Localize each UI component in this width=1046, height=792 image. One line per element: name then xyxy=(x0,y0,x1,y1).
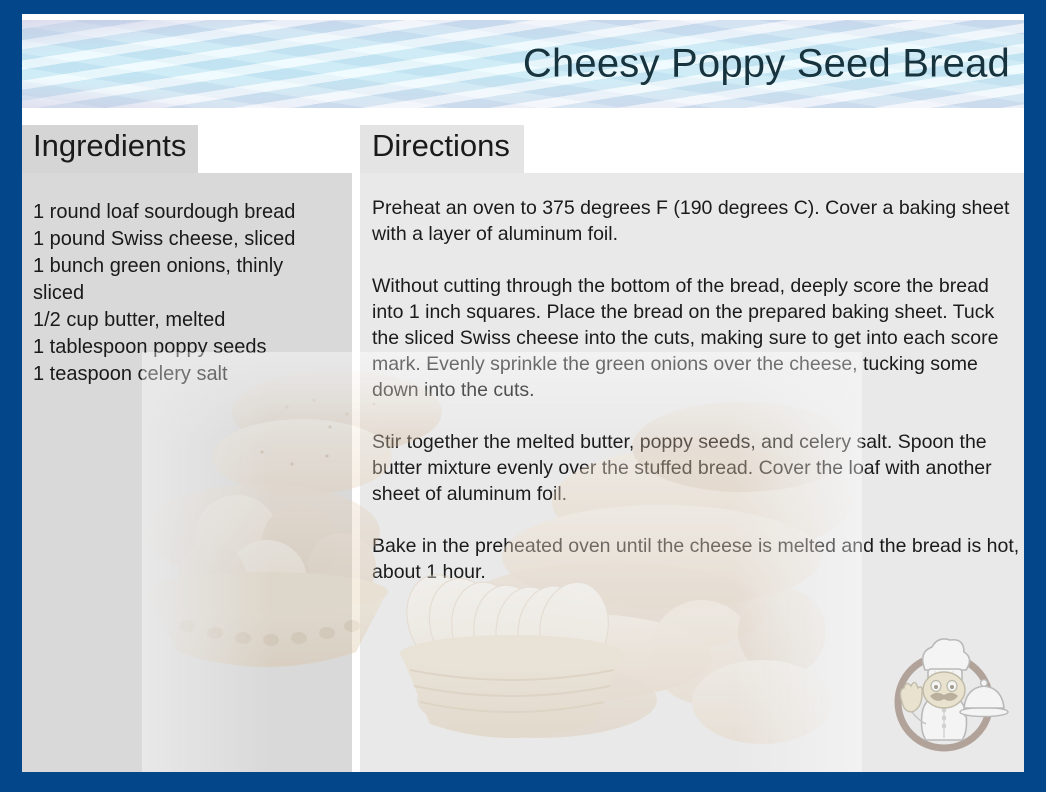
card-border-right xyxy=(1024,0,1046,792)
directions-tab-filler xyxy=(524,125,1024,173)
ingredients-list: 1 round loaf sourdough bread 1 pound Swi… xyxy=(33,199,335,388)
header-banner: Cheesy Poppy Seed Bread xyxy=(22,20,1024,108)
list-item: 1 bunch green onions, thinly xyxy=(33,253,335,280)
list-item: 1 teaspoon celery salt xyxy=(33,361,335,388)
directions-body: Preheat an oven to 375 degrees F (190 de… xyxy=(372,195,1022,585)
list-item: sliced xyxy=(33,280,335,307)
ingredients-tab-filler xyxy=(198,125,352,173)
directions-heading: Directions xyxy=(372,128,510,164)
card-border-bottom xyxy=(0,772,1046,792)
card-border-top xyxy=(0,0,1046,14)
ingredients-heading: Ingredients xyxy=(33,128,186,164)
list-item: 1/2 cup butter, melted xyxy=(33,307,335,334)
directions-paragraph: Stir together the melted butter, poppy s… xyxy=(372,429,1022,507)
page-title: Cheesy Poppy Seed Bread xyxy=(523,42,1010,87)
list-item: 1 tablespoon poppy seeds xyxy=(33,334,335,361)
ingredients-tab: Ingredients xyxy=(22,125,198,173)
card-border-left xyxy=(0,0,22,792)
directions-tab: Directions xyxy=(360,125,524,173)
list-item: 1 round loaf sourdough bread xyxy=(33,199,335,226)
list-item: 1 pound Swiss cheese, sliced xyxy=(33,226,335,253)
recipe-card: Cheesy Poppy Seed Bread Ingredients 1 ro… xyxy=(0,0,1046,792)
ingredients-panel: Ingredients 1 round loaf sourdough bread… xyxy=(22,125,352,772)
page-surface: Cheesy Poppy Seed Bread Ingredients 1 ro… xyxy=(22,14,1024,772)
directions-paragraph: Bake in the preheated oven until the che… xyxy=(372,533,1022,585)
directions-paragraph: Without cutting through the bottom of th… xyxy=(372,273,1022,403)
directions-paragraph: Preheat an oven to 375 degrees F (190 de… xyxy=(372,195,1022,247)
directions-panel: Directions Preheat an oven to 375 degree… xyxy=(360,125,1024,772)
